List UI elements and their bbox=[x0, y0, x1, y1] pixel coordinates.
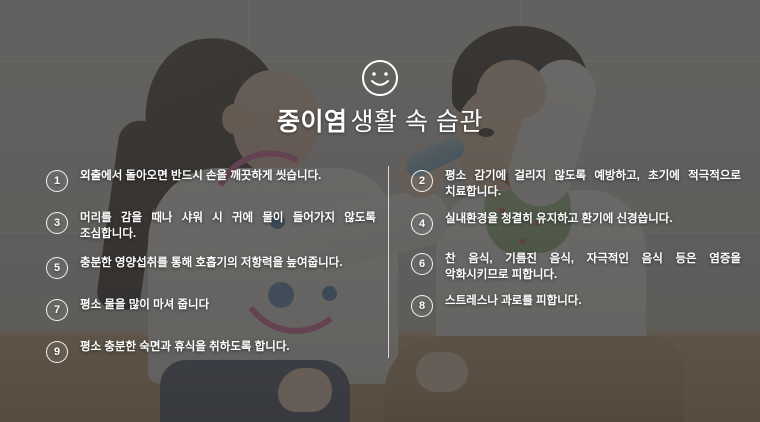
item-number-badge: 5 bbox=[46, 257, 68, 279]
item-text: 평소 물을 많이 마셔 줍니다 bbox=[80, 297, 376, 313]
title-subject: 생활 속 습관 bbox=[351, 108, 483, 136]
list-item: 7 평소 물을 많이 마셔 줍니다 bbox=[46, 297, 376, 327]
list-item: 9 평소 충분한 숙면과 휴식을 취하도록 합니다. bbox=[46, 339, 376, 369]
item-number-badge: 2 bbox=[411, 170, 433, 192]
item-text: 평소 충분한 숙면과 휴식을 취하도록 합니다. bbox=[80, 339, 376, 355]
item-number-badge: 4 bbox=[411, 213, 433, 235]
item-number-badge: 3 bbox=[46, 212, 68, 234]
item-text: 충분한 영양섭취를 통해 호흡기의 저항력을 높여줍니다. bbox=[80, 255, 376, 271]
item-number-badge: 6 bbox=[411, 253, 433, 275]
tips-column-right: 2 평소 감기에 걸리지 않도록 예방하고, 초기에 적극적으로 치료합니다. … bbox=[411, 168, 741, 333]
column-divider bbox=[388, 166, 389, 358]
item-text: 평소 감기에 걸리지 않도록 예방하고, 초기에 적극적으로 치료합니다. bbox=[445, 168, 741, 201]
list-item: 5 충분한 영양섭취를 통해 호흡기의 저항력을 높여줍니다. bbox=[46, 255, 376, 285]
title-keyword: 중이염 bbox=[277, 108, 348, 136]
list-item: 8 스트레스나 과로를 피합니다. bbox=[411, 293, 741, 323]
list-item: 6 찬 음식, 기름진 음식, 자극적인 음식 등은 염증을 악화시키므로 피합… bbox=[411, 251, 741, 284]
item-text: 찬 음식, 기름진 음식, 자극적인 음식 등은 염증을 악화시키므로 피합니다… bbox=[445, 251, 741, 284]
infographic-banner: 중이염생활 속 습관 1 외출에서 돌아오면 반드시 손을 깨끗하게 씻습니다.… bbox=[0, 0, 760, 422]
list-item: 1 외출에서 돌아오면 반드시 손을 깨끗하게 씻습니다. bbox=[46, 168, 376, 198]
item-text: 머리를 감을 때나 샤워 시 귀에 물이 들어가지 않도록 조심합니다. bbox=[80, 210, 376, 243]
item-text: 외출에서 돌아오면 반드시 손을 깨끗하게 씻습니다. bbox=[80, 168, 376, 184]
list-item: 2 평소 감기에 걸리지 않도록 예방하고, 초기에 적극적으로 치료합니다. bbox=[411, 168, 741, 201]
item-text: 실내환경을 청결히 유지하고 환기에 신경씁니다. bbox=[445, 211, 741, 227]
page-title: 중이염생활 속 습관 bbox=[0, 102, 760, 138]
item-number-badge: 9 bbox=[46, 341, 68, 363]
item-text: 스트레스나 과로를 피합니다. bbox=[445, 293, 741, 309]
content-layer: 중이염생활 속 습관 1 외출에서 돌아오면 반드시 손을 깨끗하게 씻습니다.… bbox=[0, 0, 760, 422]
tips-column-left: 1 외출에서 돌아오면 반드시 손을 깨끗하게 씻습니다. 3 머리를 감을 때… bbox=[46, 168, 376, 381]
item-number-badge: 1 bbox=[46, 170, 68, 192]
item-number-badge: 8 bbox=[411, 295, 433, 317]
list-item: 4 실내환경을 청결히 유지하고 환기에 신경씁니다. bbox=[411, 211, 741, 241]
list-item: 3 머리를 감을 때나 샤워 시 귀에 물이 들어가지 않도록 조심합니다. bbox=[46, 210, 376, 243]
smiley-face-icon bbox=[361, 59, 399, 97]
item-number-badge: 7 bbox=[46, 299, 68, 321]
